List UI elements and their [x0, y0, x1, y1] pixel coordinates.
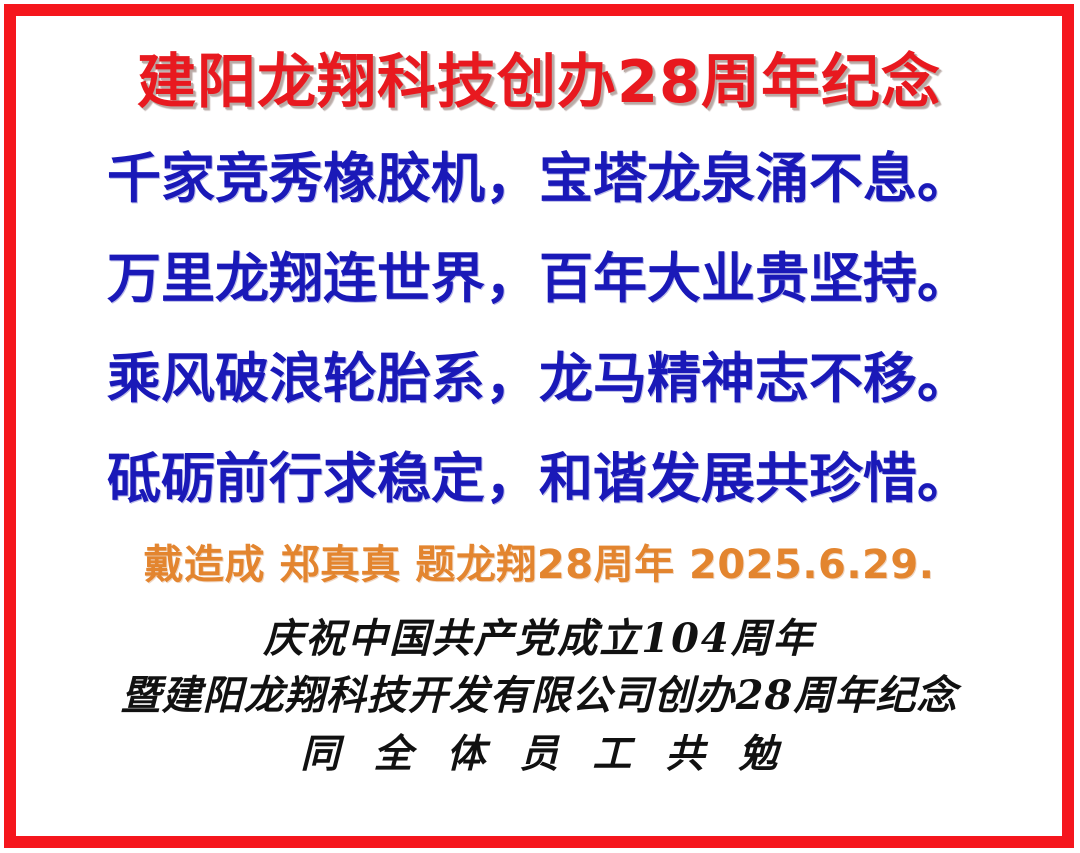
- couplet-line-2: 万里龙翔连世界，百年大业贵坚持。: [107, 229, 971, 329]
- poster-red-frame: 建阳龙翔科技创办28周年纪念 千家竞秀橡胶机，宝塔龙泉涌不息。 万里龙翔连世界，…: [4, 4, 1074, 848]
- signature-line: 戴造成 郑真真 题龙翔28周年 2025.6.29.: [144, 543, 935, 587]
- footer-dedication-block: 庆祝中国共产党成立104周年 暨建阳龙翔科技开发有限公司创办28周年纪念 同全体…: [16, 611, 1062, 783]
- footer-line-1: 庆祝中国共产党成立104周年: [263, 611, 815, 667]
- footer-line-3: 同全体员工共勉: [266, 725, 811, 783]
- couplet-line-1: 千家竞秀橡胶机，宝塔龙泉涌不息。: [107, 129, 971, 229]
- couplet-line-4: 砥砺前行求稳定，和谐发展共珍惜。: [107, 429, 971, 529]
- page-title: 建阳龙翔科技创办28周年纪念: [137, 52, 941, 111]
- poster-canvas: 建阳龙翔科技创办28周年纪念 千家竞秀橡胶机，宝塔龙泉涌不息。 万里龙翔连世界，…: [0, 0, 1080, 853]
- couplet-line-3: 乘风破浪轮胎系，龙马精神志不移。: [107, 329, 971, 429]
- footer-line-2: 暨建阳龙翔科技开发有限公司创办28周年纪念: [121, 667, 958, 725]
- couplet-block: 千家竞秀橡胶机，宝塔龙泉涌不息。 万里龙翔连世界，百年大业贵坚持。 乘风破浪轮胎…: [16, 129, 1062, 529]
